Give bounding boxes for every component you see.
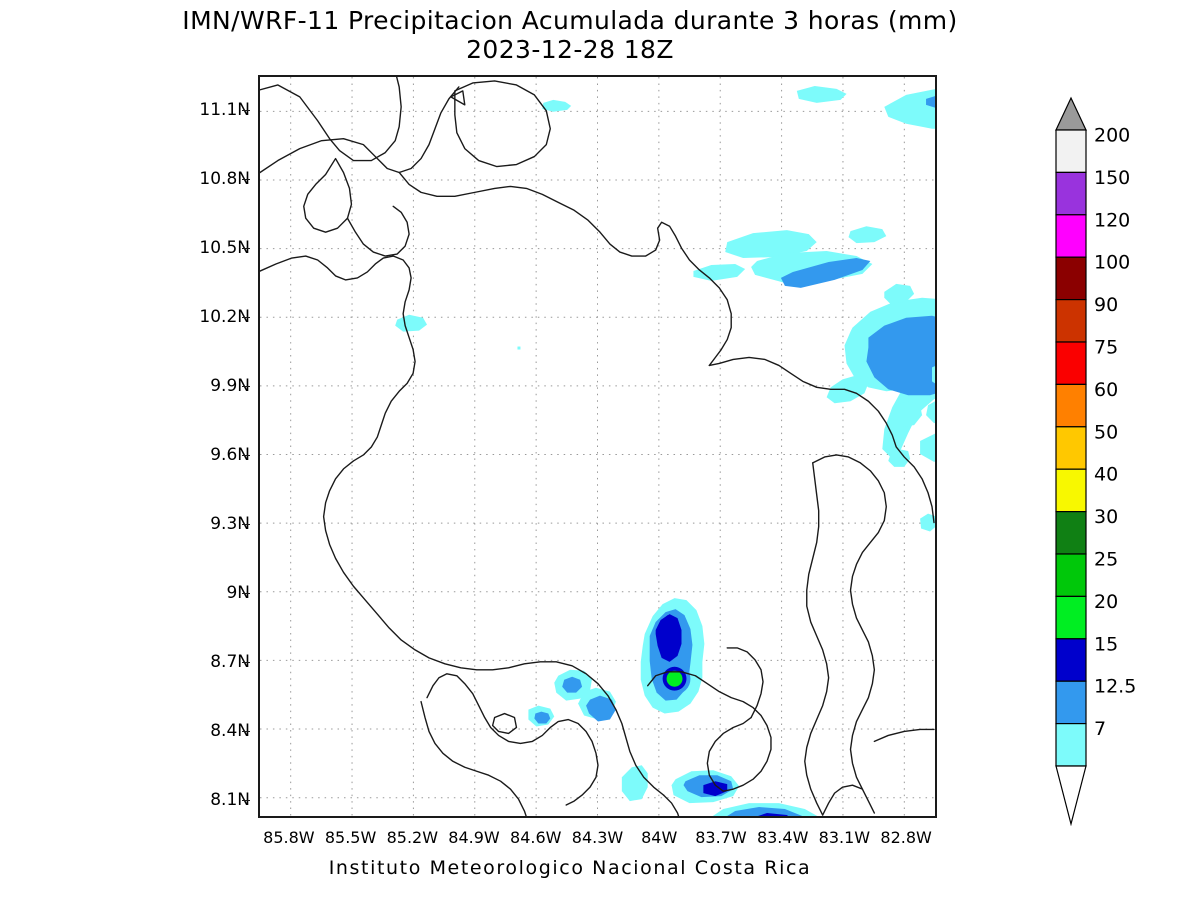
colorbar-tick-label: 100 — [1094, 252, 1130, 274]
chart-title: IMN/WRF-11 Precipitacion Acumulada duran… — [0, 6, 1140, 64]
colorbar-tick-label: 12.5 — [1094, 676, 1136, 698]
colorbar-tick-label: 50 — [1094, 421, 1118, 443]
colorbar-tick-label: 25 — [1094, 549, 1118, 571]
y-tick-mark — [242, 179, 250, 180]
y-tick-mark — [242, 731, 250, 732]
colorbar-tick-label: 75 — [1094, 337, 1118, 359]
colorbar-svg: 20015012010090756050403025201512.57 — [1052, 96, 1192, 826]
x-tick-label: 83.4W — [757, 828, 808, 847]
x-tick-label: 84W — [641, 828, 677, 847]
colorbar-band[interactable] — [1056, 215, 1086, 257]
x-tick-label: 84.9W — [448, 828, 499, 847]
colorbar-tick-label: 200 — [1094, 125, 1130, 147]
map-canvas — [260, 77, 935, 816]
y-tick-mark — [242, 386, 250, 387]
y-tick-mark — [242, 317, 250, 318]
colorbar-band[interactable] — [1056, 512, 1086, 554]
colorbar-tick-label: 150 — [1094, 167, 1130, 189]
map-plot-area[interactable] — [258, 75, 937, 818]
title-line-1: IMN/WRF-11 Precipitacion Acumulada duran… — [0, 6, 1140, 35]
x-axis: 85.8W85.5W85.2W84.9W84.6W84.3W84W83.7W83… — [258, 818, 937, 858]
colorbar-tick-label: 60 — [1094, 379, 1118, 401]
y-tick-mark — [242, 524, 250, 525]
x-tick-label: 83.7W — [695, 828, 746, 847]
colorbar-bands: 20015012010090756050403025201512.57 — [1056, 98, 1136, 824]
x-tick-label: 82.8W — [880, 828, 931, 847]
colorbar-under-arrow — [1056, 766, 1086, 824]
precipitation-field — [395, 86, 935, 816]
title-line-2: 2023-12-28 18Z — [0, 35, 1140, 64]
y-axis: 11.1N10.8N10.5N10.2N9.9N9.6N9.3N9N8.7N8.… — [188, 75, 250, 818]
colorbar-band[interactable] — [1056, 342, 1086, 384]
map-svg — [260, 77, 935, 816]
colorbar-tick-label: 120 — [1094, 209, 1130, 231]
colorbar-tick-label: 40 — [1094, 464, 1118, 486]
y-tick-mark — [242, 248, 250, 249]
colorbar-tick-label: 7 — [1094, 718, 1106, 740]
colorbar-tick-label: 15 — [1094, 633, 1118, 655]
colorbar-band[interactable] — [1056, 554, 1086, 596]
colorbar-band[interactable] — [1056, 300, 1086, 342]
y-tick-mark — [242, 455, 250, 456]
x-tick-label: 83.1W — [819, 828, 870, 847]
y-tick-mark — [242, 593, 250, 594]
x-tick-label: 85.8W — [263, 828, 314, 847]
y-tick-mark — [242, 110, 250, 111]
footer-credit: Instituto Meteorologico Nacional Costa R… — [0, 857, 1140, 879]
x-tick-label: 84.6W — [510, 828, 561, 847]
x-tick-label: 85.5W — [325, 828, 376, 847]
colorbar-tick-label: 20 — [1094, 591, 1118, 613]
colorbar-band[interactable] — [1056, 681, 1086, 723]
colorbar-band[interactable] — [1056, 724, 1086, 766]
colorbar-band[interactable] — [1056, 384, 1086, 426]
colorbar-band[interactable] — [1056, 257, 1086, 299]
colorbar-tick-label: 30 — [1094, 506, 1118, 528]
colorbar-band[interactable] — [1056, 469, 1086, 511]
y-tick-mark — [242, 662, 250, 663]
colorbar-tick-label: 90 — [1094, 294, 1118, 316]
colorbar-band[interactable] — [1056, 130, 1086, 172]
colorbar-over-arrow — [1056, 98, 1086, 130]
x-tick-label: 85.2W — [387, 828, 438, 847]
colorbar-band[interactable] — [1056, 172, 1086, 214]
y-tick-mark — [242, 800, 250, 801]
colorbar-band[interactable] — [1056, 427, 1086, 469]
colorbar-band[interactable] — [1056, 596, 1086, 638]
colorbar-band[interactable] — [1056, 639, 1086, 681]
colorbar[interactable]: 20015012010090756050403025201512.57 — [1052, 96, 1192, 826]
x-tick-label: 84.3W — [572, 828, 623, 847]
